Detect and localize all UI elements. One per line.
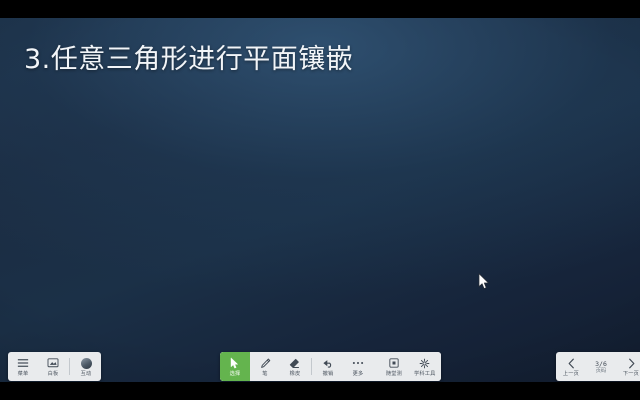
more-button[interactable]: 更多 (343, 352, 373, 381)
page-navigation-toolbar: 上一页 3/6 页码 下一页 (556, 352, 640, 381)
interaction-button[interactable]: 互动 (71, 352, 101, 381)
undo-button-label: 撤销 (323, 371, 334, 377)
hamburger-menu-icon (17, 357, 29, 370)
subject-tools-button[interactable]: 学科工具 (409, 352, 441, 381)
quiz-button-label: 随堂测 (386, 371, 402, 377)
mouse-pointer-icon (230, 357, 240, 370)
letterbox-bottom (0, 382, 640, 400)
pen-tool-label: 笔 (262, 371, 267, 377)
undo-button[interactable]: 撤销 (313, 352, 343, 381)
eraser-tool-label: 橡皮 (290, 371, 301, 377)
whiteboard-button[interactable]: 白板 (38, 352, 68, 381)
screen: 3.任意三角形进行平面镶嵌 菜单 (0, 0, 640, 400)
next-page-button[interactable]: 下一页 (616, 352, 640, 381)
center-toolbar: 选择 笔 橡皮 (220, 352, 441, 381)
select-tool-button[interactable]: 选择 (220, 352, 250, 381)
eraser-icon (289, 357, 301, 370)
menu-button[interactable]: 菜单 (8, 352, 38, 381)
left-toolbar: 菜单 白板 互动 (8, 352, 101, 381)
page-indicator-value: 3/6 (595, 360, 607, 368)
page-indicator[interactable]: 3/6 页码 (586, 352, 616, 381)
ellipsis-icon (352, 357, 364, 370)
menu-button-label: 菜单 (18, 371, 29, 377)
chevron-left-icon (567, 357, 576, 370)
tools-icon (419, 357, 430, 370)
toolbar-divider (311, 358, 312, 375)
center-toolbar-primary-cluster: 选择 笔 橡皮 (220, 352, 373, 381)
chevron-right-icon (627, 357, 636, 370)
whiteboard-button-label: 白板 (48, 371, 59, 377)
page-indicator-label: 页码 (596, 368, 606, 374)
pen-tool-button[interactable]: 笔 (250, 352, 280, 381)
center-toolbar-secondary-cluster: 随堂测 (379, 352, 441, 381)
eraser-tool-button[interactable]: 橡皮 (280, 352, 310, 381)
page-title: 3.任意三角形进行平面镶嵌 (24, 44, 353, 76)
slide-canvas[interactable]: 3.任意三角形进行平面镶嵌 (0, 18, 640, 382)
interaction-button-label: 互动 (81, 371, 92, 377)
toolbar-divider (69, 358, 70, 375)
avatar-icon (81, 357, 92, 370)
more-button-label: 更多 (353, 371, 364, 377)
screen-icon (389, 357, 399, 370)
previous-page-button[interactable]: 上一页 (556, 352, 586, 381)
undo-arrow-icon (322, 357, 334, 370)
whiteboard-icon (47, 357, 59, 370)
previous-page-label: 上一页 (563, 371, 579, 377)
select-tool-label: 选择 (230, 371, 241, 377)
pen-icon (260, 357, 271, 370)
next-page-label: 下一页 (623, 371, 639, 377)
letterbox-top (0, 0, 640, 18)
subject-tools-button-label: 学科工具 (414, 371, 436, 377)
quiz-button[interactable]: 随堂测 (379, 352, 409, 381)
mouse-pointer-icon (478, 273, 490, 290)
